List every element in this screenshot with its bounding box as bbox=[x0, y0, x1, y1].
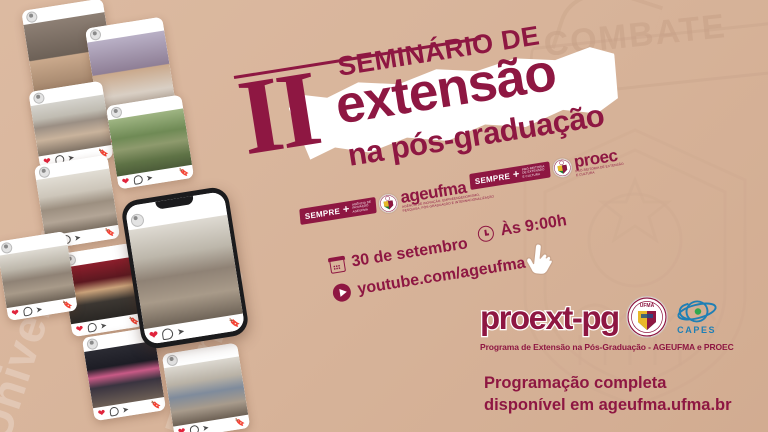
user-avatar-icon bbox=[0, 241, 13, 254]
list-item[interactable]: ❤ ➤ 🔖 bbox=[0, 231, 78, 321]
edition-numeral: II bbox=[234, 65, 323, 164]
proext-logo-row: proext-pg UFMA bbox=[480, 296, 768, 338]
capes-label: CAPES bbox=[677, 325, 716, 335]
ufma-crest-icon bbox=[378, 192, 400, 214]
svg-text:UFMA: UFMA bbox=[639, 303, 654, 309]
user-avatar-icon bbox=[89, 28, 102, 41]
user-avatar-icon bbox=[25, 10, 38, 23]
bookmark-icon[interactable]: 🔖 bbox=[228, 318, 240, 329]
heart-icon[interactable]: ❤ bbox=[75, 324, 84, 334]
user-avatar-icon bbox=[38, 165, 51, 178]
paper-plane-icon[interactable]: ➤ bbox=[122, 405, 130, 414]
proext-pg-wordmark: proext-pg bbox=[480, 301, 619, 334]
bookmark-icon[interactable]: 🔖 bbox=[151, 400, 162, 409]
paper-plane-icon[interactable]: ➤ bbox=[202, 424, 210, 432]
comment-bubble-icon[interactable] bbox=[189, 425, 199, 432]
paper-plane-icon[interactable]: ➤ bbox=[74, 233, 82, 242]
calendar-icon bbox=[329, 256, 346, 273]
phone-screen: ❤ ➤ 🔖 bbox=[125, 191, 246, 345]
user-avatar-icon bbox=[166, 354, 179, 367]
paper-plane-icon[interactable]: ➤ bbox=[176, 326, 185, 336]
bookmark-icon[interactable]: 🔖 bbox=[105, 228, 116, 237]
post-photo bbox=[0, 245, 76, 308]
closing-line-2: disponível em ageufma.ufma.br bbox=[484, 394, 768, 416]
paper-plane-icon[interactable]: ➤ bbox=[35, 305, 43, 314]
sempre-label: SEMPRE bbox=[305, 206, 341, 221]
closing-line-1: Programação completa bbox=[484, 372, 768, 394]
comment-bubble-icon[interactable] bbox=[22, 306, 32, 316]
clock-icon bbox=[477, 225, 495, 243]
heart-icon[interactable]: ❤ bbox=[177, 427, 186, 432]
post-photo bbox=[128, 215, 242, 329]
bookmark-icon[interactable]: 🔖 bbox=[62, 300, 73, 309]
heart-icon[interactable]: ❤ bbox=[97, 408, 106, 418]
comment-bubble-icon[interactable] bbox=[109, 406, 119, 416]
user-avatar-icon bbox=[110, 106, 123, 119]
user-avatar-icon bbox=[130, 212, 145, 227]
ufma-crest-icon: UFMA bbox=[626, 296, 668, 338]
sempre-label: SEMPRE bbox=[475, 171, 511, 186]
capes-logo-icon: CAPES bbox=[675, 299, 719, 335]
post-photo bbox=[36, 169, 118, 237]
bookmark-icon[interactable]: 🔖 bbox=[235, 418, 246, 427]
post-photo bbox=[164, 356, 248, 426]
list-item[interactable]: ❤ ➤ 🔖 bbox=[106, 95, 194, 190]
heart-icon[interactable]: ❤ bbox=[148, 330, 159, 342]
heart-icon[interactable]: ❤ bbox=[11, 308, 20, 318]
paper-plane-icon[interactable]: ➤ bbox=[146, 174, 154, 183]
closing-call-to-action: Programação completa disponível em ageuf… bbox=[484, 372, 768, 417]
pointing-hand-cursor-icon bbox=[521, 242, 554, 279]
comment-bubble-icon[interactable] bbox=[133, 175, 143, 185]
paper-plane-icon[interactable]: ➤ bbox=[100, 321, 108, 330]
comment-bubble-icon[interactable] bbox=[161, 327, 174, 340]
sempre-sublabel: PRÓ-REITORIA DE EXTENSÃO E CULTURA bbox=[522, 165, 545, 179]
phone-mockup[interactable]: ❤ ➤ 🔖 bbox=[120, 185, 250, 350]
sempre-sublabel: AGÊNCIA DE INOVAÇÃO AGEUFMA bbox=[352, 201, 372, 214]
bookmark-icon[interactable]: 🔖 bbox=[179, 168, 190, 177]
proext-pg-block: proext-pg UFMA bbox=[480, 296, 768, 352]
plus-icon: + bbox=[513, 170, 520, 180]
plus-icon: + bbox=[343, 205, 350, 215]
user-avatar-icon bbox=[86, 337, 99, 350]
event-poster: COMBATE Universidade Extensão ❤ ➤ 🔖 bbox=[0, 0, 768, 432]
list-item[interactable]: ❤ ➤ 🔖 bbox=[162, 343, 251, 432]
user-avatar-icon bbox=[33, 91, 46, 104]
comment-bubble-icon[interactable] bbox=[87, 322, 97, 332]
ufma-crest-icon bbox=[551, 157, 573, 179]
post-photo bbox=[108, 108, 192, 176]
post-photo bbox=[84, 341, 164, 409]
proext-pg-subtitle: Programa de Extensão na Pós-Graduação - … bbox=[480, 342, 768, 352]
heart-icon[interactable]: ❤ bbox=[121, 177, 130, 187]
youtube-play-icon[interactable] bbox=[332, 282, 353, 303]
